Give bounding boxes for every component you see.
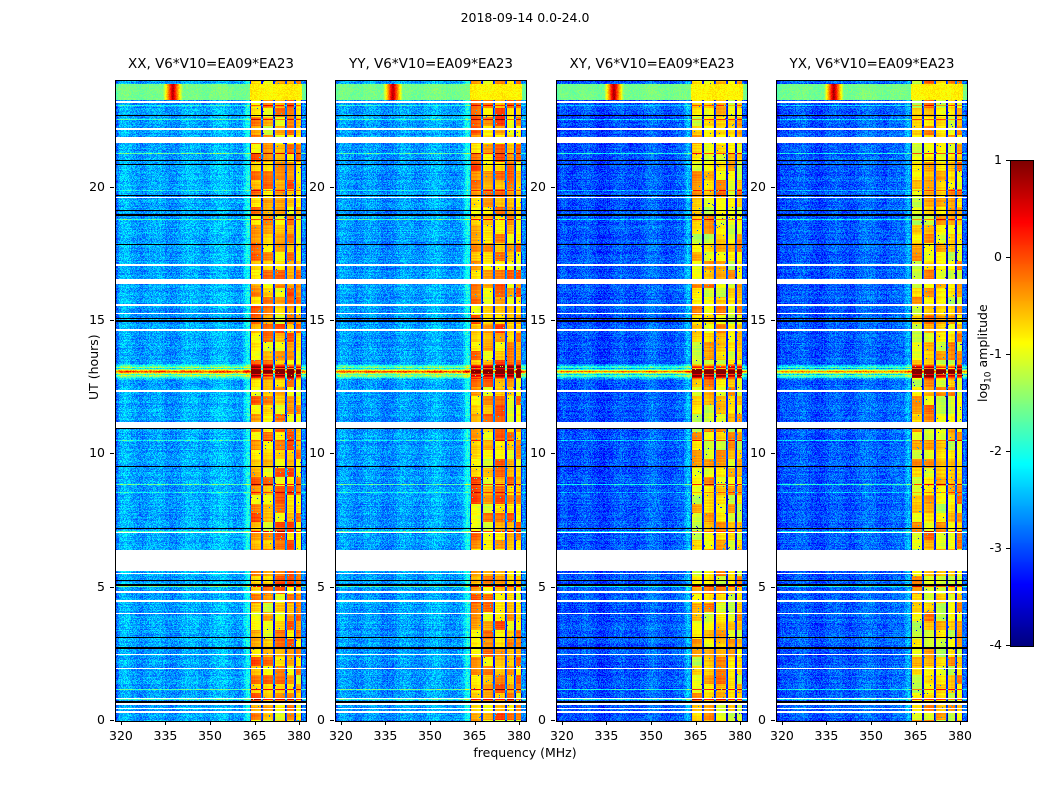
colorbar-tickmark <box>1006 257 1010 258</box>
y-tickmark <box>110 187 114 188</box>
x-tick-label: 335 <box>586 728 626 743</box>
y-tick-label: 10 <box>295 445 325 460</box>
colorbar-tickmark <box>1006 548 1010 549</box>
spectrogram-image-xx <box>116 81 306 721</box>
y-tick-label: 15 <box>736 312 766 327</box>
heatmap-panel-yy[interactable] <box>335 80 527 722</box>
x-tickmark <box>210 721 211 725</box>
panel-title-yx: YX, V6*V10=EA09*EA23 <box>776 56 968 72</box>
spectrogram-image-yy <box>336 81 526 721</box>
y-tickmark <box>771 320 775 321</box>
x-tickmark <box>165 721 166 725</box>
spectrogram-image-xy <box>557 81 747 721</box>
y-tick-label: 10 <box>75 445 105 460</box>
colorbar-tick-label: -2 <box>976 443 1002 458</box>
colorbar-gradient <box>1011 161 1033 646</box>
panel-title-xy: XY, V6*V10=EA09*EA23 <box>556 56 748 72</box>
x-tickmark <box>651 721 652 725</box>
x-tick-label: 380 <box>720 728 760 743</box>
x-tickmark <box>121 721 122 725</box>
y-tickmark <box>110 720 114 721</box>
colorbar-tickmark <box>1006 160 1010 161</box>
y-tick-label: 0 <box>75 712 105 727</box>
x-tick-label: 320 <box>542 728 582 743</box>
y-tick-label: 0 <box>516 712 546 727</box>
x-tickmark <box>871 721 872 725</box>
y-tickmark <box>110 453 114 454</box>
panel-title-xx: XX, V6*V10=EA09*EA23 <box>115 56 307 72</box>
x-tickmark <box>562 721 563 725</box>
colorbar-label-sub: 10 <box>984 371 994 382</box>
x-tickmark <box>960 721 961 725</box>
x-tickmark <box>255 721 256 725</box>
x-tickmark <box>430 721 431 725</box>
y-tickmark <box>771 587 775 588</box>
x-tickmark <box>696 721 697 725</box>
y-tickmark <box>551 720 555 721</box>
x-axis-label: frequency (MHz) <box>0 745 1050 760</box>
x-tickmark <box>782 721 783 725</box>
y-tick-label: 15 <box>75 312 105 327</box>
panel-title-yy: YY, V6*V10=EA09*EA23 <box>335 56 527 72</box>
x-tick-label: 320 <box>321 728 361 743</box>
y-tick-label: 5 <box>295 579 325 594</box>
y-tickmark <box>330 720 334 721</box>
x-tickmark <box>385 721 386 725</box>
colorbar-tick-label: -4 <box>976 637 1002 652</box>
y-tickmark <box>551 187 555 188</box>
y-tick-label: 20 <box>295 179 325 194</box>
y-tickmark <box>551 453 555 454</box>
x-tick-label: 380 <box>499 728 539 743</box>
x-tick-label: 320 <box>762 728 802 743</box>
x-tickmark <box>826 721 827 725</box>
heatmap-panel-xx[interactable] <box>115 80 307 722</box>
y-tickmark <box>330 187 334 188</box>
x-tick-label: 365 <box>676 728 716 743</box>
spectrogram-image-yx <box>777 81 967 721</box>
x-tickmark <box>475 721 476 725</box>
y-tickmark <box>771 720 775 721</box>
figure-canvas: 2018-09-14 0.0-24.0 UT (hours) frequency… <box>0 0 1050 800</box>
y-tick-label: 10 <box>516 445 546 460</box>
y-tick-label: 5 <box>516 579 546 594</box>
x-tick-label: 335 <box>145 728 185 743</box>
y-tick-label: 5 <box>736 579 766 594</box>
x-tick-label: 350 <box>190 728 230 743</box>
y-axis-label: UT (hours) <box>86 334 101 400</box>
x-tickmark <box>606 721 607 725</box>
x-tick-label: 350 <box>851 728 891 743</box>
y-tick-label: 15 <box>295 312 325 327</box>
colorbar-tick-label: -3 <box>976 540 1002 555</box>
y-tick-label: 10 <box>736 445 766 460</box>
x-tick-label: 335 <box>806 728 846 743</box>
colorbar-label-tail: amplitude <box>975 304 990 371</box>
x-tick-label: 380 <box>940 728 980 743</box>
colorbar-tick-label: -1 <box>976 346 1002 361</box>
colorbar-tickmark <box>1006 354 1010 355</box>
x-tick-label: 380 <box>279 728 319 743</box>
y-tick-label: 0 <box>295 712 325 727</box>
y-tick-label: 20 <box>736 179 766 194</box>
y-tickmark <box>330 587 334 588</box>
y-tick-label: 0 <box>736 712 766 727</box>
y-tickmark <box>110 587 114 588</box>
y-tick-label: 5 <box>75 579 105 594</box>
x-tick-label: 365 <box>896 728 936 743</box>
y-tickmark <box>551 320 555 321</box>
figure-suptitle: 2018-09-14 0.0-24.0 <box>0 10 1050 25</box>
x-tick-label: 350 <box>631 728 671 743</box>
y-tickmark <box>771 187 775 188</box>
y-tick-label: 20 <box>75 179 105 194</box>
y-tickmark <box>551 587 555 588</box>
y-tickmark <box>110 320 114 321</box>
colorbar-label-main: log <box>975 383 990 402</box>
colorbar-tick-label: 1 <box>976 152 1002 167</box>
x-tick-label: 320 <box>101 728 141 743</box>
heatmap-panel-xy[interactable] <box>556 80 748 722</box>
colorbar-tickmark <box>1006 645 1010 646</box>
colorbar[interactable] <box>1010 160 1034 647</box>
y-tick-label: 15 <box>516 312 546 327</box>
colorbar-tick-label: 0 <box>976 249 1002 264</box>
y-tick-label: 20 <box>516 179 546 194</box>
x-tick-label: 335 <box>365 728 405 743</box>
x-tick-label: 365 <box>455 728 495 743</box>
x-tickmark <box>916 721 917 725</box>
x-tickmark <box>341 721 342 725</box>
y-tickmark <box>330 320 334 321</box>
x-tick-label: 350 <box>410 728 450 743</box>
y-tickmark <box>330 453 334 454</box>
y-tickmark <box>771 453 775 454</box>
heatmap-panel-yx[interactable] <box>776 80 968 722</box>
colorbar-tickmark <box>1006 451 1010 452</box>
x-tick-label: 365 <box>235 728 275 743</box>
